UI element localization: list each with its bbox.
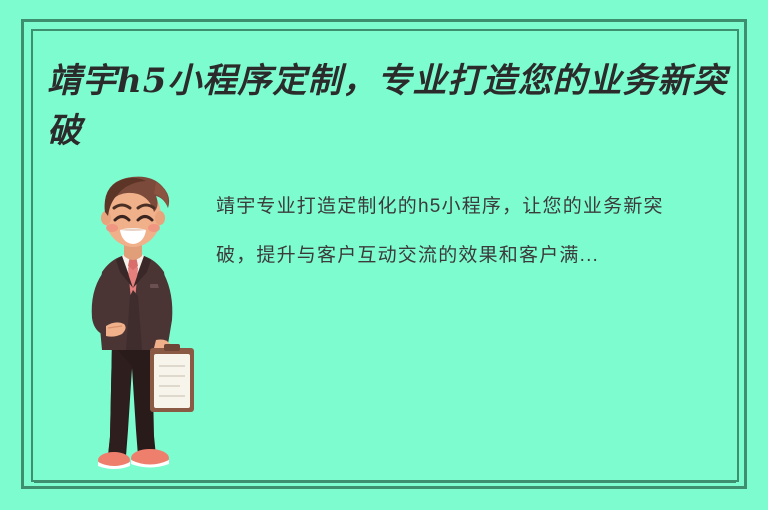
right-ear bbox=[155, 211, 165, 225]
page-description: 靖宇专业打造定制化的h5小程序，让您的业务新突破，提升与客户互动交流的效果和客户… bbox=[216, 182, 700, 280]
page-title: 靖宇h5小程序定制，专业打造您的业务新突破 bbox=[47, 56, 737, 156]
ground-line bbox=[34, 481, 736, 483]
right-cheek bbox=[148, 224, 160, 232]
promo-card: 靖宇h5小程序定制，专业打造您的业务新突破 靖宇专业打造定制化的h5小程序，让您… bbox=[0, 0, 768, 510]
clipboard bbox=[150, 344, 194, 412]
businessman-illustration bbox=[72, 168, 196, 480]
left-cheek bbox=[106, 224, 118, 232]
